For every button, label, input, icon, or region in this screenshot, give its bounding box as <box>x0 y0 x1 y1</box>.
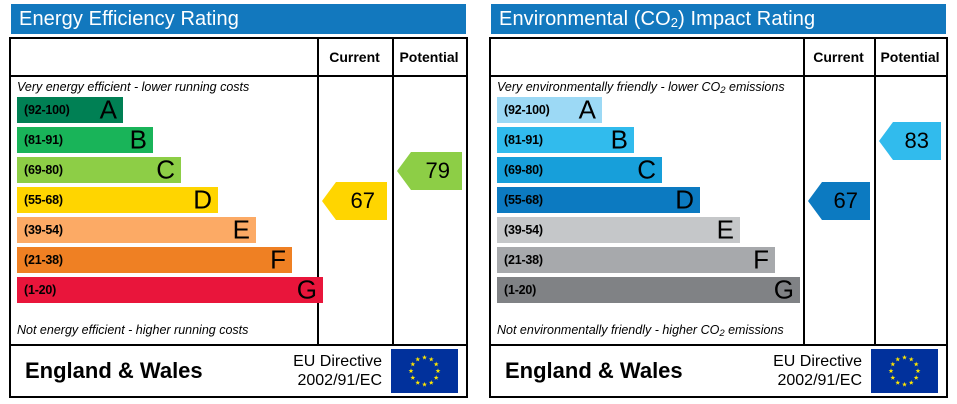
epc-graphic: Energy Efficiency Rating Current Potenti… <box>0 0 957 404</box>
chart-title: Energy Efficiency Rating <box>19 8 239 30</box>
chart-title-bar: Energy Efficiency Rating <box>11 4 466 34</box>
band-letter-e: E <box>717 216 734 242</box>
band-bar-e: (39-54) E <box>497 217 740 243</box>
caption-top-subscript: 2 <box>720 85 725 96</box>
band-letter-a: A <box>100 96 117 122</box>
band-range-e: (39-54) <box>504 223 543 237</box>
column-header-potential: Potential <box>874 39 946 75</box>
column-header-current: Current <box>317 39 392 75</box>
eu-directive-line2: 2002/91/EC <box>293 371 382 390</box>
caption-top-text: Very energy efficient - lower running co… <box>17 80 249 94</box>
band-letter-a: A <box>579 96 596 122</box>
caption-bottom: Not environmentally friendly - higher CO… <box>497 323 784 337</box>
band-letter-b: B <box>130 126 147 152</box>
band-range-b: (81-91) <box>504 133 543 147</box>
eu-directive-line2: 2002/91/EC <box>773 371 862 390</box>
eu-directive-line1: EU Directive <box>293 352 382 371</box>
caption-bottom-text: Not environmentally friendly - higher CO <box>497 323 719 337</box>
band-letter-g: G <box>774 276 794 302</box>
band-range-g: (1-20) <box>24 283 56 297</box>
footer-band: England & Wales EU Directive 2002/91/EC <box>11 346 466 396</box>
caption-top: Very energy efficient - lower running co… <box>17 80 249 94</box>
potential-rating-value: 83 <box>905 128 929 154</box>
band-range-b: (81-91) <box>24 133 63 147</box>
current-rating-value: 67 <box>351 188 375 214</box>
footer-band: England & Wales EU Directive 2002/91/EC <box>491 346 946 396</box>
band-letter-f: F <box>270 246 286 272</box>
band-letter-e: E <box>233 216 250 242</box>
band-range-e: (39-54) <box>24 223 63 237</box>
band-bar-g: (1-20) G <box>497 277 800 303</box>
band-letter-d: D <box>675 186 694 212</box>
band-letter-c: C <box>637 156 656 182</box>
current-rating-arrow: 67 <box>322 182 387 220</box>
column-header-potential: Potential <box>392 39 466 75</box>
band-range-f: (21-38) <box>24 253 63 267</box>
caption-bottom-text: Not energy efficient - higher running co… <box>17 323 248 337</box>
band-bar-d: (55-68) D <box>17 187 218 213</box>
potential-rating-arrow: 83 <box>879 122 941 160</box>
chart-title: Environmental (CO <box>499 8 671 30</box>
band-bar-b: (81-91) B <box>17 127 153 153</box>
band-bar-d: (55-68) D <box>497 187 700 213</box>
band-range-c: (69-80) <box>24 163 63 177</box>
chart-frame: Current Potential Very energy efficient … <box>9 37 468 398</box>
band-range-a: (92-100) <box>504 103 550 117</box>
potential-rating-value: 79 <box>426 158 450 184</box>
caption-bottom-subscript: 2 <box>719 328 724 339</box>
eu-flag-icon <box>871 349 938 393</box>
eu-directive-line1: EU Directive <box>773 352 862 371</box>
band-letter-g: G <box>297 276 317 302</box>
band-range-a: (92-100) <box>24 103 70 117</box>
band-range-d: (55-68) <box>504 193 543 207</box>
band-bar-f: (21-38) F <box>17 247 292 273</box>
header-rule <box>11 75 466 77</box>
band-bar-f: (21-38) F <box>497 247 775 273</box>
chart-frame: Current Potential Very environmentally f… <box>489 37 948 398</box>
caption-top-tail: emissions <box>726 80 785 94</box>
region-label: England & Wales <box>25 358 203 384</box>
band-letter-d: D <box>193 186 212 212</box>
caption-top: Very environmentally friendly - lower CO… <box>497 80 785 94</box>
energy-efficiency-rating-chart: Energy Efficiency Rating Current Potenti… <box>0 0 477 404</box>
current-rating-value: 67 <box>834 188 858 214</box>
eu-flag-icon <box>391 349 458 393</box>
band-letter-f: F <box>753 246 769 272</box>
band-letter-c: C <box>156 156 175 182</box>
caption-bottom: Not energy efficient - higher running co… <box>17 323 248 337</box>
eu-directive-label: EU Directive 2002/91/EC <box>293 352 382 390</box>
column-header-current: Current <box>803 39 874 75</box>
chart-title-bar: Environmental (CO2) Impact Rating <box>491 4 946 34</box>
band-bar-e: (39-54) E <box>17 217 256 243</box>
potential-rating-arrow: 79 <box>397 152 462 190</box>
column-divider-potential <box>392 39 394 346</box>
co2-impact-rating-chart: Environmental (CO2) Impact Rating Curren… <box>480 0 957 404</box>
eu-directive-label: EU Directive 2002/91/EC <box>773 352 862 390</box>
band-range-d: (55-68) <box>24 193 63 207</box>
caption-bottom-tail: emissions <box>725 323 784 337</box>
band-range-f: (21-38) <box>504 253 543 267</box>
band-bar-g: (1-20) G <box>17 277 323 303</box>
band-bar-c: (69-80) C <box>17 157 181 183</box>
band-range-c: (69-80) <box>504 163 543 177</box>
column-divider-current <box>803 39 805 346</box>
header-rule <box>491 75 946 77</box>
column-divider-potential <box>874 39 876 346</box>
band-bar-b: (81-91) B <box>497 127 634 153</box>
chart-title-tail: ) Impact Rating <box>678 8 815 30</box>
band-bar-a: (92-100) A <box>497 97 602 123</box>
band-bar-c: (69-80) C <box>497 157 662 183</box>
chart-title-subscript: 2 <box>671 15 678 30</box>
band-bar-a: (92-100) A <box>17 97 123 123</box>
caption-top-text: Very environmentally friendly - lower CO <box>497 80 720 94</box>
band-letter-b: B <box>611 126 628 152</box>
current-rating-arrow: 67 <box>808 182 870 220</box>
band-range-g: (1-20) <box>504 283 536 297</box>
region-label: England & Wales <box>505 358 683 384</box>
